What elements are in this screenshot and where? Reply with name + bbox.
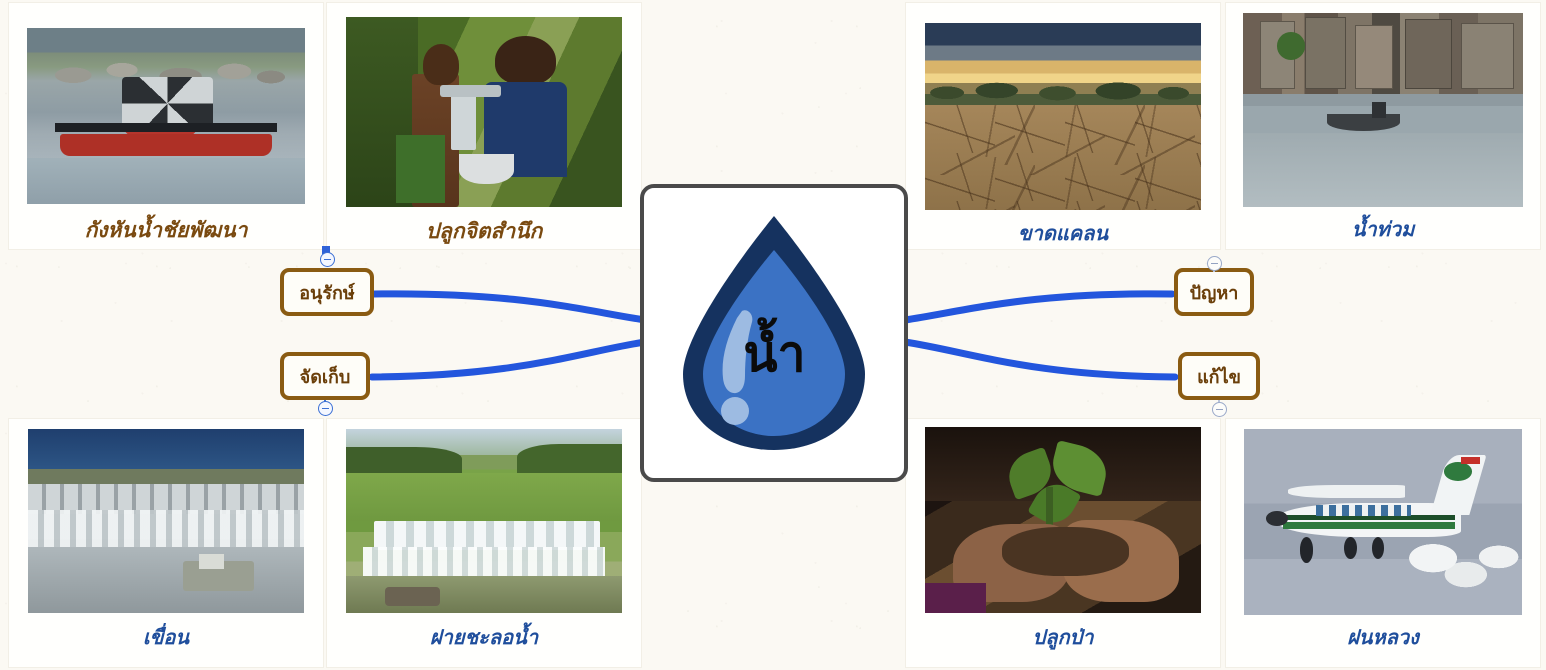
- node-panha-label: ปัญหา: [1190, 278, 1239, 307]
- collapse-minus-icon-jatkep[interactable]: [318, 401, 333, 416]
- node-jatkep[interactable]: จัดเก็บ: [280, 352, 370, 400]
- node-anurak[interactable]: อนุรักษ์: [280, 268, 374, 316]
- central-node-water[interactable]: น้ำ: [640, 184, 908, 482]
- water-drop-icon: [669, 208, 879, 458]
- node-anurak-label: อนุรักษ์: [299, 278, 355, 307]
- node-jatkep-label: จัดเก็บ: [300, 362, 351, 391]
- node-panha[interactable]: ปัญหา: [1174, 268, 1254, 316]
- collapse-minus-icon-anurak[interactable]: [320, 252, 335, 267]
- collapse-minus-icon-panha[interactable]: [1207, 256, 1222, 271]
- node-kaekhai-label: แก้ไข: [1197, 362, 1241, 391]
- mindmap-canvas[interactable]: น้ำ อนุรักษ์ จัดเก็บ ปัญหา แก้ไข กังหันน…: [0, 0, 1546, 670]
- collapse-minus-icon-kaekhai[interactable]: [1212, 402, 1227, 417]
- node-kaekhai[interactable]: แก้ไข: [1178, 352, 1260, 400]
